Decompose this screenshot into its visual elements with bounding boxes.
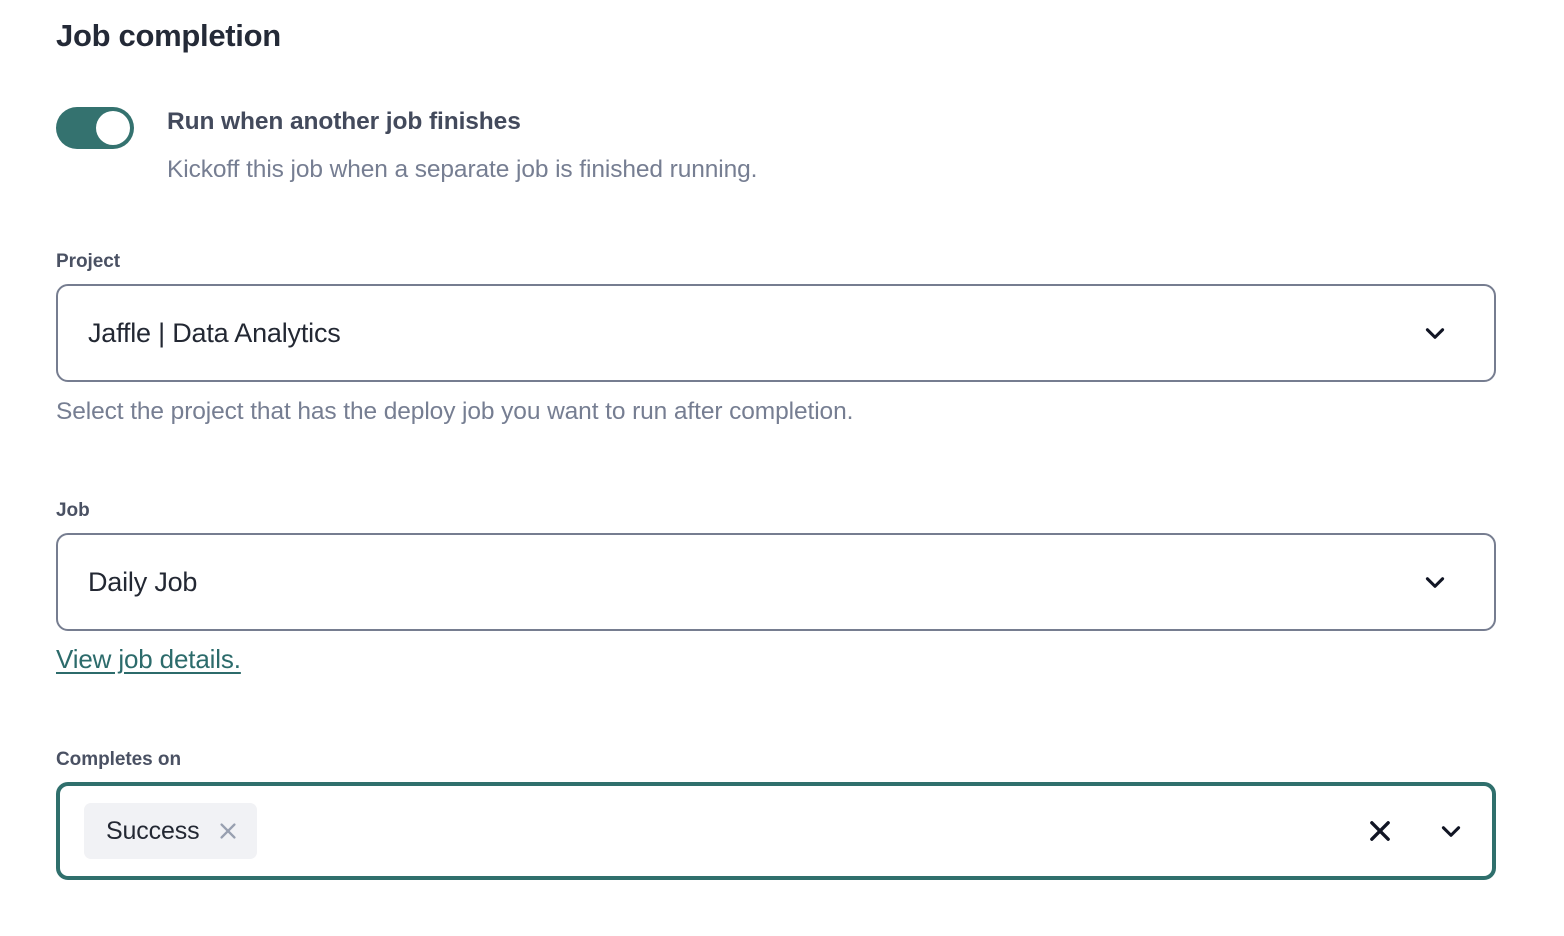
status-chip-success: Success [84, 803, 257, 859]
run-on-job-completion-row: Run when another job finishes Kickoff th… [56, 105, 757, 185]
project-field-group: Project Jaffle | Data Analytics Select t… [56, 250, 1496, 427]
toggle-knob [96, 111, 130, 145]
close-icon[interactable] [1366, 817, 1394, 845]
job-select[interactable]: Daily Job [56, 533, 1496, 631]
toggle-text-block: Run when another job finishes Kickoff th… [167, 105, 757, 185]
chevron-down-icon[interactable] [1438, 818, 1464, 844]
page-title: Job completion [56, 16, 281, 56]
close-icon[interactable] [217, 820, 239, 842]
toggle-description: Kickoff this job when a separate job is … [167, 155, 757, 185]
project-selected-value: Jaffle | Data Analytics [88, 316, 341, 350]
completes-on-multiselect[interactable]: Success [56, 782, 1496, 880]
view-job-details-link[interactable]: View job details. [56, 643, 241, 675]
project-label: Project [56, 250, 1496, 274]
completes-on-field-group: Completes on Success [56, 748, 1496, 880]
completes-on-label: Completes on [56, 748, 1496, 772]
project-select[interactable]: Jaffle | Data Analytics [56, 284, 1496, 382]
chevron-down-icon [1422, 320, 1448, 346]
toggle-label: Run when another job finishes [167, 105, 757, 139]
chip-label: Success [106, 803, 199, 859]
multiselect-actions [1366, 817, 1464, 845]
job-selected-value: Daily Job [88, 565, 197, 599]
job-completion-panel: Job completion Run when another job fini… [0, 0, 1564, 936]
job-field-group: Job Daily Job View job details. [56, 499, 1496, 675]
run-when-another-job-finishes-toggle[interactable] [56, 107, 134, 149]
project-helper-text: Select the project that has the deploy j… [56, 397, 1496, 427]
chevron-down-icon [1422, 569, 1448, 595]
job-label: Job [56, 499, 1496, 523]
